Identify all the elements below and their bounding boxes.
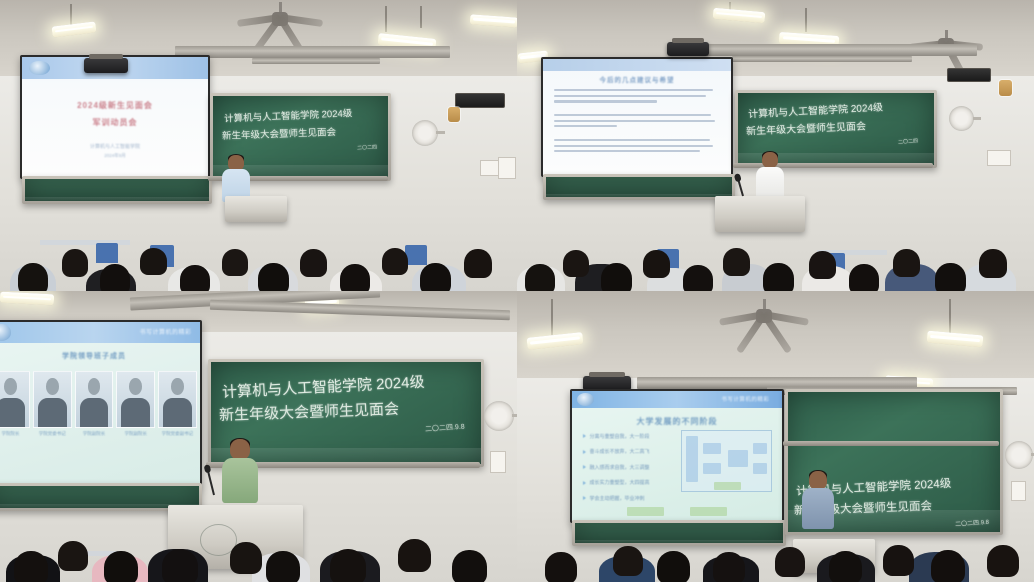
slide-bullet-list: 分离与重塑自我，大一阶段 奋斗成长不放弃，大二高飞 融入感而求自我，大三调整 xyxy=(583,433,678,511)
slide-paragraphs xyxy=(554,89,719,164)
leader-title: 学院院长 xyxy=(2,431,20,437)
bullet-marker-icon xyxy=(583,450,586,454)
projector-icon xyxy=(84,58,128,73)
wall-sign xyxy=(498,157,516,179)
projector-icon xyxy=(667,42,709,56)
wall-fan-icon xyxy=(412,120,438,146)
paragraph xyxy=(554,114,719,127)
led-display-icon xyxy=(455,93,505,108)
leader-title: 学院副院长 xyxy=(124,431,147,437)
blackboard-line-2: 新生年级大会暨师生见面会 xyxy=(222,124,336,142)
slide-content: 今后的几点建议与希望 xyxy=(543,59,731,175)
projection-screen: 书写计算机的精彩 大学发展的不同阶段 分离与重塑自我，大一阶段 奋斗成长不放弃，… xyxy=(570,389,784,523)
blackboard-line-1: 计算机与人工智能学院 2024级 xyxy=(223,106,352,126)
slide-content: 书写计算机的精彩 大学发展的不同阶段 分离与重塑自我，大一阶段 奋斗成长不放弃，… xyxy=(572,391,782,521)
leader-photo xyxy=(33,371,72,429)
blackboard-signature: 二〇二四 xyxy=(898,137,918,145)
audience xyxy=(0,512,517,582)
wall-sign xyxy=(490,451,506,473)
wall-fan-icon xyxy=(1005,441,1033,469)
bullet-text: 奋斗成长不放弃，大二高飞 xyxy=(590,448,650,455)
slide-content: 书写计算机的精彩 学院领导班子成员 学院院长 学院党委书记 xyxy=(0,322,200,484)
audience xyxy=(0,191,517,291)
bullet-item: 学会主动把握，毕业冲刺 xyxy=(583,495,678,502)
bullet-text: 学会主动把握，毕业冲刺 xyxy=(590,495,645,502)
speaker-person xyxy=(809,471,827,527)
blackboard-line-2: 新生年级大会暨师生见面会 xyxy=(746,117,867,137)
wall-fan-icon xyxy=(484,401,514,431)
leader-item: 学院院长 xyxy=(0,371,29,455)
leader-title: 学院副院长 xyxy=(83,431,106,437)
bullet-marker-icon xyxy=(583,481,586,485)
slide-header: 书写计算机的精彩 xyxy=(140,327,192,336)
photo-collage: 2024级新生见面会 军训动员会 计算机与人工智能学院 2024年9月 计算机与… xyxy=(0,0,1034,582)
projection-screen: 今后的几点建议与希望 xyxy=(541,57,733,177)
bullet-item: 奋斗成长不放弃，大二高飞 xyxy=(583,448,678,455)
leadership-photo-row: 学院院长 学院党委书记 学院副院长 学院副院长 xyxy=(0,371,196,455)
slide-header: 书写计算机的精彩 xyxy=(721,395,769,403)
emblem-icon xyxy=(448,107,460,122)
bullet-text: 融入感而求自我，大三调整 xyxy=(590,464,650,471)
projection-screen: 2024级新生见面会 军训动员会 计算机与人工智能学院 2024年9月 xyxy=(20,55,210,179)
audience xyxy=(517,196,1034,291)
emblem-icon xyxy=(999,80,1012,96)
blackboard-signature: 二〇二四.9.8 xyxy=(425,422,465,435)
slide-diagram xyxy=(681,430,771,492)
speaker-person xyxy=(230,439,250,501)
slide-title: 学院领导班子成员 xyxy=(0,351,200,361)
paragraph xyxy=(554,89,719,102)
slide-subtitle: 军训动员会 xyxy=(22,117,208,128)
bullet-item: 分离与重塑自我，大一阶段 xyxy=(583,433,678,440)
bullet-marker-icon xyxy=(583,496,586,500)
leader-item: 学院党委副书记 xyxy=(159,371,196,455)
projection-screen: 书写计算机的精彩 学院领导班子成员 学院院长 学院党委书记 xyxy=(0,320,202,486)
bullet-marker-icon xyxy=(583,434,586,438)
slide-footer-line2: 2024年9月 xyxy=(22,153,208,159)
bullet-text: 成长实力重塑型，大四提高 xyxy=(590,479,650,486)
bullet-item: 成长实力重塑型，大四提高 xyxy=(583,479,678,486)
photo-panel-bottom-right: 书写计算机的精彩 大学发展的不同阶段 分离与重塑自我，大一阶段 奋斗成长不放弃，… xyxy=(517,291,1034,582)
leader-photo xyxy=(158,371,197,429)
bullet-marker-icon xyxy=(583,465,586,469)
photo-panel-top-left: 2024级新生见面会 军训动员会 计算机与人工智能学院 2024年9月 计算机与… xyxy=(0,0,517,291)
leader-item: 学院党委书记 xyxy=(34,371,71,455)
leader-title: 学院党委书记 xyxy=(39,431,66,437)
bullet-item: 融入感而求自我，大三调整 xyxy=(583,464,678,471)
paragraph xyxy=(554,139,719,152)
slide-footer-line1: 计算机与人工智能学院 xyxy=(22,143,208,150)
wall-fan-icon xyxy=(949,106,974,131)
speaker-person xyxy=(762,152,778,200)
leader-title: 学院党委副书记 xyxy=(162,431,194,437)
leader-photo xyxy=(116,371,155,429)
led-display-icon xyxy=(947,68,991,82)
leader-photo xyxy=(75,371,114,429)
blackboard-signature: 二〇二四 xyxy=(357,143,377,151)
slide-title: 大学发展的不同阶段 xyxy=(572,416,782,427)
slide-content: 2024级新生见面会 军训动员会 计算机与人工智能学院 2024年9月 xyxy=(22,57,208,177)
leader-photo xyxy=(0,371,30,429)
wall-sign xyxy=(987,150,1011,166)
ceiling-fan-icon xyxy=(235,2,325,36)
wall-sign xyxy=(1011,481,1026,501)
photo-panel-bottom-left: 书写计算机的精彩 学院领导班子成员 学院院长 学院党委书记 xyxy=(0,291,517,582)
audience xyxy=(517,524,1034,582)
leader-item: 学院副院长 xyxy=(76,371,113,455)
leader-item: 学院副院长 xyxy=(117,371,154,455)
bullet-text: 分离与重塑自我，大一阶段 xyxy=(590,433,650,440)
ceiling-fan-icon xyxy=(717,299,811,335)
blackboard-line-2: 新生年级大会暨师生见面会 xyxy=(219,398,400,425)
slide-title: 今后的几点建议与希望 xyxy=(543,74,731,84)
photo-panel-top-right: 今后的几点建议与希望 xyxy=(517,0,1034,291)
slide-title: 2024级新生见面会 xyxy=(22,100,208,111)
